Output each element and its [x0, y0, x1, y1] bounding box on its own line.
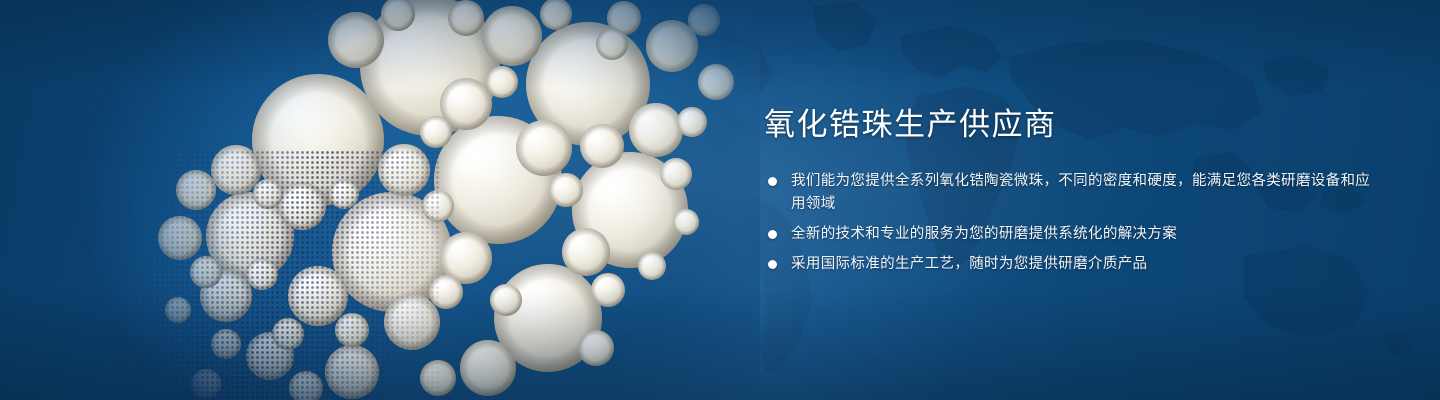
bullet-dot-icon	[768, 177, 777, 186]
banner-headline: 氧化锆珠生产供应商	[764, 108, 1384, 142]
feature-text: 全新的技术和专业的服务为您的研磨提供系统化的解决方案	[791, 223, 1384, 246]
feature-list-item: 我们能为您提供全系列氧化锆陶瓷微珠，不同的密度和硬度，能满足您各类研磨设备和应用…	[764, 170, 1384, 216]
bullet-dot-icon	[768, 230, 777, 239]
zirconia-beads-photo	[0, 0, 760, 400]
banner-copy: 氧化锆珠生产供应商 我们能为您提供全系列氧化锆陶瓷微珠，不同的密度和硬度，能满足…	[764, 108, 1384, 276]
feature-list-item: 采用国际标准的生产工艺，随时为您提供研磨介质产品	[764, 253, 1384, 276]
feature-list: 我们能为您提供全系列氧化锆陶瓷微珠，不同的密度和硬度，能满足您各类研磨设备和应用…	[764, 170, 1384, 276]
feature-text: 采用国际标准的生产工艺，随时为您提供研磨介质产品	[791, 253, 1384, 276]
hero-banner: 氧化锆珠生产供应商 我们能为您提供全系列氧化锆陶瓷微珠，不同的密度和硬度，能满足…	[0, 0, 1440, 400]
feature-text: 我们能为您提供全系列氧化锆陶瓷微珠，不同的密度和硬度，能满足您各类研磨设备和应用…	[791, 170, 1384, 216]
bullet-dot-icon	[768, 260, 777, 269]
feature-list-item: 全新的技术和专业的服务为您的研磨提供系统化的解决方案	[764, 223, 1384, 246]
